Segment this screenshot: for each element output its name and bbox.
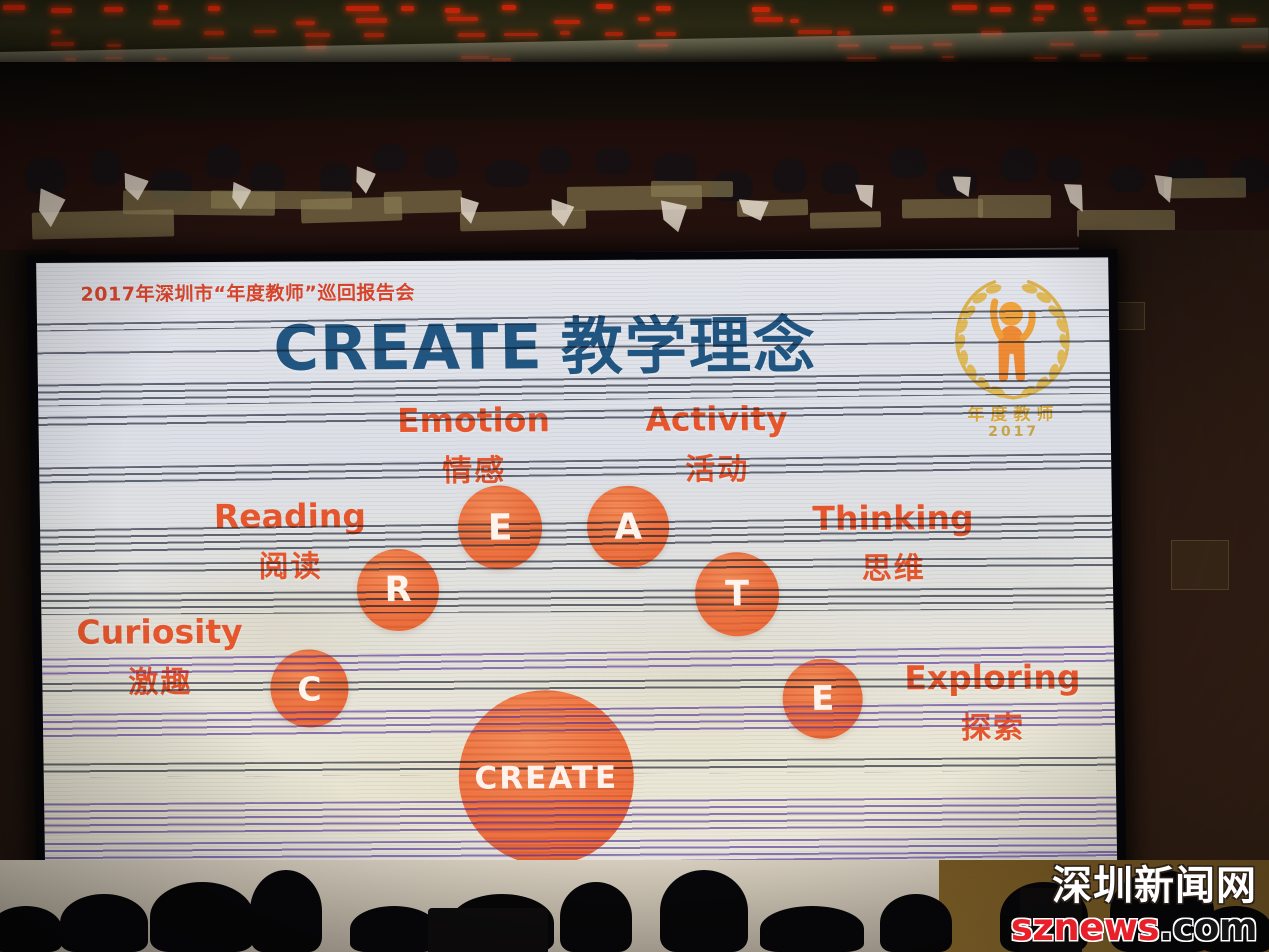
bubble-thinking-letter: T (725, 574, 749, 614)
photo-scene: 2017年深圳市“年度教师”巡回报告会 CREATE教学理念 (0, 0, 1269, 952)
audience-head (150, 882, 254, 952)
balcony-seat (206, 145, 241, 178)
audience-head (0, 906, 62, 952)
balcony-seat (773, 158, 807, 193)
ceiling-led (51, 42, 74, 45)
balcony-paper (659, 201, 687, 233)
ceiling-led (1231, 18, 1256, 22)
audience-head (660, 870, 748, 952)
balcony-seat (1110, 166, 1145, 192)
audience-head (250, 870, 322, 952)
ceiling-led (1035, 5, 1054, 10)
ceiling-led (208, 6, 220, 11)
ceiling-led (752, 7, 770, 12)
balcony-desk (384, 190, 463, 214)
ceiling-led (502, 5, 516, 10)
balcony-seat (25, 157, 66, 195)
ceiling-led (883, 6, 893, 11)
watermark-url: sznews.com (1011, 909, 1257, 946)
balcony-seat (91, 149, 121, 185)
balcony-desk (978, 195, 1051, 218)
ceiling-led (447, 17, 478, 21)
ceiling-led (504, 33, 538, 37)
ceiling-led (51, 8, 72, 13)
ceiling-led (346, 6, 379, 11)
balcony-seat (1047, 156, 1082, 182)
page-title: CREATE教学理念 (273, 295, 818, 388)
ceiling-led (656, 32, 676, 36)
wall-panel-small (1117, 302, 1145, 330)
balcony-seat (822, 162, 859, 194)
bubble-activity-letter: A (614, 506, 642, 547)
ceiling-led (356, 18, 387, 22)
ceiling-led (1084, 7, 1095, 12)
ceiling-led (158, 5, 168, 10)
annual-teacher-logo: 年度教师 2017 (936, 275, 1089, 454)
balcony-seat (889, 147, 927, 178)
bubble-reading-letter: R (384, 570, 412, 610)
bubble-create-letter: CREATE (474, 759, 618, 796)
ceiling-led (1127, 20, 1146, 24)
ceiling-led (153, 20, 180, 24)
balcony-desk (902, 198, 983, 218)
ceiling-led (104, 7, 123, 12)
audience-head (560, 882, 632, 952)
balcony-desk (810, 211, 882, 229)
ceiling-led (798, 30, 832, 34)
ceiling-led (3, 5, 26, 10)
audience-head (350, 906, 438, 952)
ceiling-led (560, 31, 570, 35)
ceiling-led (990, 7, 1011, 12)
audience-head (60, 894, 148, 952)
watermark-site-tld: .com (1159, 906, 1257, 949)
ceiling-led (554, 20, 580, 24)
ceiling-led (305, 33, 330, 37)
watermark-cn: 深圳新闻网 (1011, 866, 1257, 906)
ceiling-led (254, 30, 276, 34)
ceiling-led (837, 31, 849, 35)
balcony-paper (855, 182, 877, 210)
balcony-seat (539, 146, 571, 174)
ceiling-led (656, 6, 670, 11)
ceiling-led (401, 6, 414, 11)
ceiling-led (638, 17, 650, 21)
ceiling-led (107, 44, 122, 47)
ceiling-led (296, 21, 315, 25)
balcony-paper (739, 199, 769, 221)
speaker-stand-silhouette (428, 908, 548, 952)
wall-panel-large (1171, 540, 1229, 590)
ceiling-led (445, 8, 460, 13)
ceiling-led (204, 31, 223, 35)
bubble-emotion-letter: E (487, 507, 512, 548)
audience-head (880, 894, 952, 952)
projection-screen: 2017年深圳市“年度教师”巡回报告会 CREATE教学理念 (27, 249, 1127, 900)
ceiling-led (1147, 7, 1180, 12)
balcony-seat (595, 147, 630, 174)
balcony-paper (1064, 180, 1088, 214)
audience-head (760, 906, 864, 952)
balcony-seat (249, 163, 285, 193)
screen-surface: 2017年深圳市“年度教师”巡回报告会 CREATE教学理念 (36, 257, 1117, 891)
ceiling-led (596, 4, 613, 9)
ceiling-led (1087, 17, 1097, 21)
ceiling-led (1183, 20, 1210, 24)
bubble-exploring-letter: E (811, 679, 835, 719)
ceiling-led (364, 33, 384, 37)
ceiling-led (1033, 17, 1045, 21)
bubble-curiosity-letter: C (297, 669, 322, 708)
balcony-desk (1163, 178, 1245, 199)
ceiling-led (790, 19, 799, 23)
ceiling-led (51, 30, 61, 34)
balcony-seat (373, 144, 407, 171)
balcony-paper (352, 166, 377, 195)
balcony-seat (424, 146, 458, 178)
watermark-site-name: sznews (1011, 906, 1159, 949)
ceiling-led (1188, 4, 1213, 9)
sznews-watermark: 深圳新闻网 sznews.com (1011, 866, 1257, 946)
balcony-desk (650, 181, 732, 197)
balcony-seat (1001, 147, 1038, 182)
ceiling-led (952, 5, 977, 10)
ceiling-led (458, 33, 484, 37)
logo-year: 2017 (939, 423, 1089, 440)
label-curiosity-en: Curiosity (59, 612, 260, 652)
ceiling-led (754, 17, 784, 21)
balcony-seat (485, 160, 530, 187)
ceiling-led (605, 32, 623, 36)
